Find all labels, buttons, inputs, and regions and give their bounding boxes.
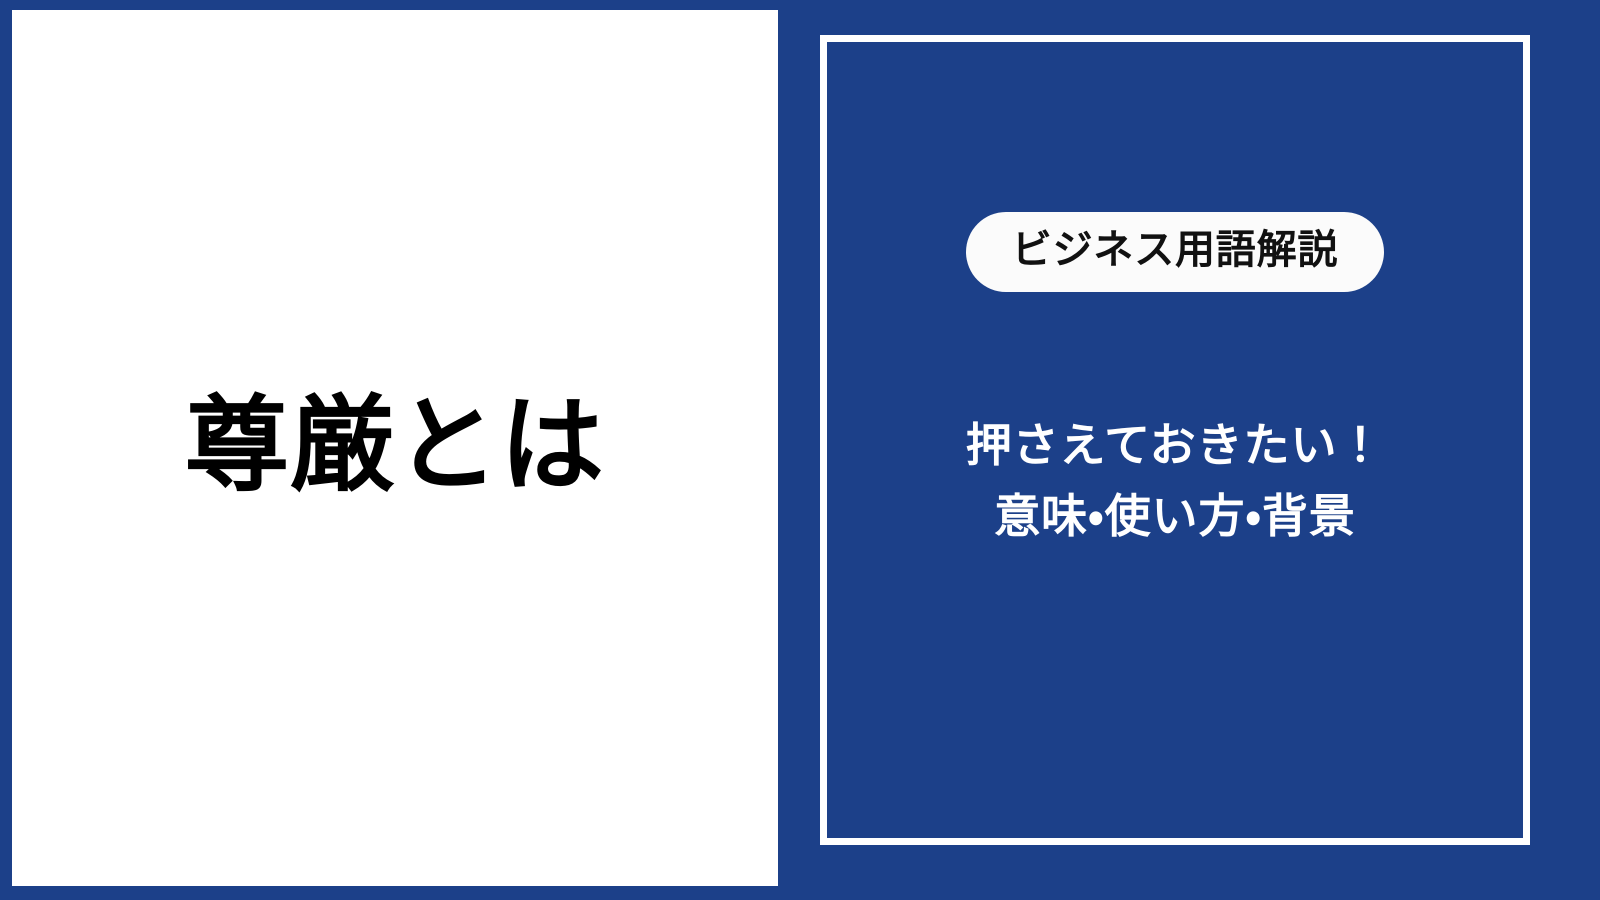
category-badge-label: ビジネス用語解説 xyxy=(1012,228,1338,272)
page-title: 尊厳とは xyxy=(185,385,605,508)
term-title-card: 尊厳とは xyxy=(12,10,778,886)
headline-line-1: 押さえておきたい！ xyxy=(966,410,1385,481)
headline-line-2: 意味・使い方・背景 xyxy=(966,481,1385,552)
category-badge: ビジネス用語解説 xyxy=(966,212,1384,292)
slide-canvas: 尊厳とは ビジネス用語解説 押さえておきたい！ 意味・使い方・背景 xyxy=(0,0,1600,900)
decorative-frame-border: ビジネス用語解説 押さえておきたい！ 意味・使い方・背景 xyxy=(820,35,1530,845)
feature-card: ビジネス用語解説 押さえておきたい！ 意味・使い方・背景 xyxy=(800,0,1600,900)
headline-block: 押さえておきたい！ 意味・使い方・背景 xyxy=(966,410,1385,553)
feature-card-content: ビジネス用語解説 押さえておきたい！ 意味・使い方・背景 xyxy=(827,42,1523,838)
